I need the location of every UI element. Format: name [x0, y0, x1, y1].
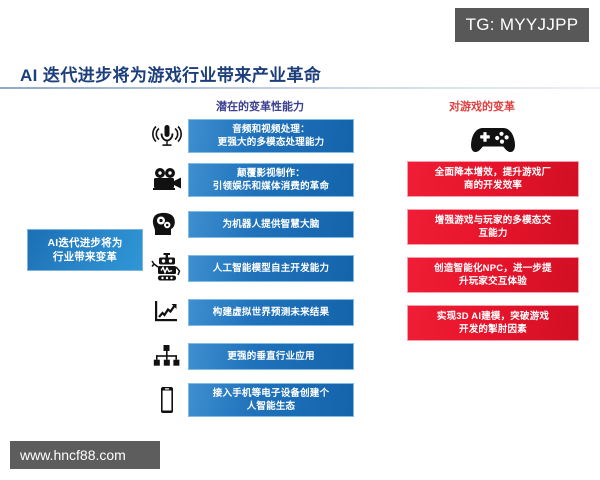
game-impact-label-line1: 实现3D AI建模，突破游戏: [437, 311, 549, 322]
game-impact-bar: 创造智能化NPC，进一步提 升玩家交互体验: [407, 257, 579, 293]
capability-row: 音频和视频处理： 更强大的多模态处理能力: [146, 117, 354, 155]
game-impact-bar: 全面降本增效，提升游戏厂 商的开发效率: [407, 161, 579, 197]
game-impact-label-line2: 升玩家交互体验: [459, 276, 527, 287]
game-impact-bar: 实现3D AI建模，突破游戏 开发的掣肘因素: [407, 305, 579, 341]
column-header-capabilities: 潜在的变革性能力: [216, 98, 304, 114]
summary-box: AI迭代进步将为 行业带来变革: [27, 229, 143, 271]
capability-bar: 接入手机等电子设备创建个 人智能生态: [188, 383, 354, 417]
capability-label-line1: 音频和视频处理：: [232, 124, 310, 135]
capability-label-line1: 更强的垂直行业应用: [227, 351, 314, 362]
capability-bar: 更强的垂直行业应用: [188, 343, 354, 370]
microphone-icon: [146, 117, 188, 155]
title-divider: [0, 87, 600, 89]
capability-label-line2: 人智能生态: [247, 401, 296, 412]
capability-bar: 颠覆影视制作： 引领娱乐和媒体消费的革命: [188, 163, 354, 197]
capability-label-line1: 为机器人提供智慧大脑: [222, 219, 319, 230]
film-camera-icon: [146, 161, 188, 199]
growth-chart-icon: [146, 293, 188, 331]
capability-label-line1: 人工智能模型自主开发能力: [213, 263, 329, 274]
capability-bar: 音频和视频处理： 更强大的多模态处理能力: [188, 119, 354, 153]
site-watermark: www.hncf88.com: [10, 441, 160, 469]
capability-label-line2: 更强大的多模态处理能力: [218, 137, 325, 148]
summary-box-text: AI迭代进步将为 行业带来变革: [47, 236, 122, 264]
capability-bar: 构建虚拟世界预测未来结果: [188, 299, 354, 326]
game-impact-label-line2: 开发的掣肘因素: [459, 324, 527, 335]
game-impact-bar: 增强游戏与玩家的多模态交 互能力: [407, 209, 579, 245]
tg-watermark-tag: TG: MYYJJPP: [455, 8, 589, 42]
capability-row: 人工智能模型自主开发能力: [146, 249, 354, 287]
page-title: AI 迭代进步将为游戏行业带来产业革命: [20, 61, 321, 86]
robot-icon: [146, 249, 188, 287]
game-impact-column: 全面降本增效，提升游戏厂 商的开发效率 增强游戏与玩家的多模态交 互能力 创造智…: [407, 119, 579, 353]
capability-row: 构建虚拟世界预测未来结果: [146, 293, 354, 331]
game-impact-label-line1: 增强游戏与玩家的多模态交: [435, 215, 551, 226]
hierarchy-icon: [146, 337, 188, 375]
capability-bar: 为机器人提供智慧大脑: [188, 211, 354, 238]
capability-label-line1: 颠覆影视制作：: [237, 168, 305, 179]
game-impact-label-line1: 全面降本增效，提升游戏厂: [435, 167, 551, 178]
capabilities-column: 音频和视频处理： 更强大的多模态处理能力 颠覆影视制作： 引领娱乐和媒体消费的革…: [146, 117, 354, 425]
game-impact-label-line2: 互能力: [478, 228, 507, 239]
summary-line-2: 行业带来变革: [53, 251, 117, 263]
game-impact-label-line1: 创造智能化NPC，进一步提: [434, 263, 552, 274]
capability-row: 更强的垂直行业应用: [146, 337, 354, 375]
game-impact-label-line2: 商的开发效率: [464, 180, 522, 191]
smartphone-icon: [146, 381, 188, 419]
capability-bar: 人工智能模型自主开发能力: [188, 255, 354, 282]
brain-gears-icon: [146, 205, 188, 243]
capability-row: 为机器人提供智慧大脑: [146, 205, 354, 243]
capability-label-line2: 引领娱乐和媒体消费的革命: [213, 181, 329, 192]
capability-row: 接入手机等电子设备创建个 人智能生态: [146, 381, 354, 419]
column-header-game-impact: 对游戏的变革: [449, 98, 515, 114]
capability-label-line1: 构建虚拟世界预测未来结果: [213, 307, 329, 318]
summary-line-1: AI迭代进步将为: [47, 237, 122, 249]
capability-row: 颠覆影视制作： 引领娱乐和媒体消费的革命: [146, 161, 354, 199]
gamepad-icon: [407, 119, 579, 161]
capability-label-line1: 接入手机等电子设备创建个: [213, 388, 329, 399]
